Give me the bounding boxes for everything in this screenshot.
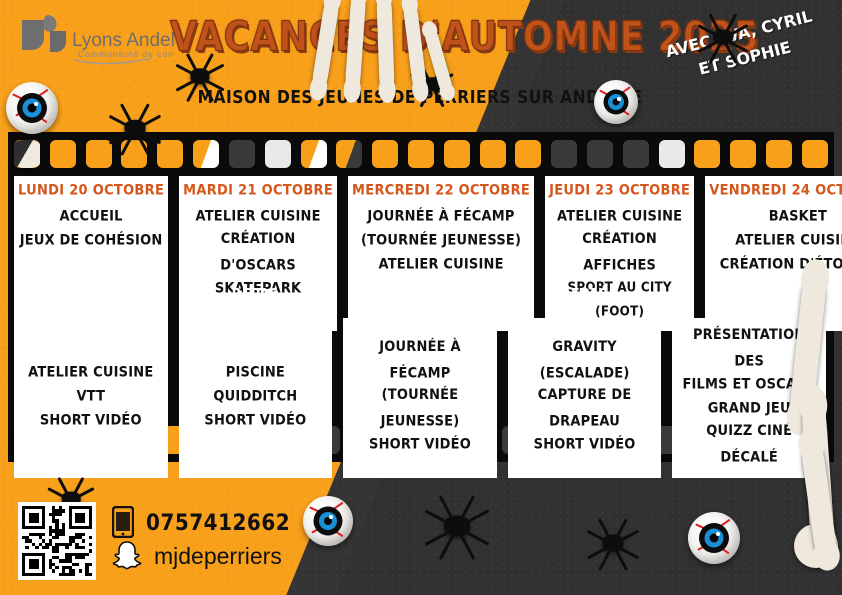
film-perforation xyxy=(730,140,756,168)
activity-item: BASKET xyxy=(709,204,842,230)
meal-label: REPAS xyxy=(343,285,497,302)
skeleton-bone-prop xyxy=(806,440,842,570)
mobile-phone-icon xyxy=(112,506,134,538)
meal-label: REPAS xyxy=(179,285,333,302)
spider-prop xyxy=(100,96,170,160)
film-perforation xyxy=(551,140,577,168)
activity-item: ATELIER CUISINE xyxy=(709,228,842,254)
svg-text:Lyons Andelle: Lyons Andelle xyxy=(72,30,174,51)
schedule-afternoon-row: ATELIER CUISINEVTTSHORT VIDÉOPISCINEQUID… xyxy=(14,318,826,478)
spider-prop xyxy=(414,486,500,566)
schedule-cell-afternoon: ATELIER CUISINEVTTSHORT VIDÉO xyxy=(14,318,168,478)
film-perforation xyxy=(480,140,506,168)
activity-item: JEUX DE COHÉSION xyxy=(18,228,164,254)
snapchat-ghost-icon xyxy=(110,540,144,572)
poster-root: Lyons Andelle Communauté de communes VAC… xyxy=(0,0,842,595)
film-perforation xyxy=(802,140,828,168)
spider-prop xyxy=(690,8,756,66)
meal-label: REPAS xyxy=(508,285,662,302)
film-perforation xyxy=(301,140,327,168)
day-heading: MARDI 21 OCTOBRE xyxy=(183,182,333,199)
schedule-cell-afternoon: PISCINEQUIDDITCHSHORT VIDÉO xyxy=(179,318,333,478)
activity-item: (TOURNÉE JEUNESSE) xyxy=(347,383,493,436)
activity-item: SHORT VIDÉO xyxy=(183,408,329,434)
schedule-cell-morning: MERCREDI 22 OCTOBREJOURNÉE À FÉCAMP(TOUR… xyxy=(348,176,534,331)
schedule-cell-morning: MARDI 21 OCTOBREATELIER CUISINECRÉATION … xyxy=(179,176,337,331)
activity-item: VTT xyxy=(18,384,164,410)
meal-label: REPAS xyxy=(14,285,168,302)
svg-text:Communauté de communes: Communauté de communes xyxy=(78,49,174,59)
activity-item: CRÉATION D'OSCARS xyxy=(183,227,333,280)
film-perforation xyxy=(444,140,470,168)
snapchat-contact[interactable]: mjdeperriers xyxy=(110,540,282,572)
film-perforation xyxy=(766,140,792,168)
schedule-meal-row: REPASREPASREPASREPASREPAS xyxy=(14,286,826,301)
film-perforation xyxy=(694,140,720,168)
activity-item: SHORT VIDÉO xyxy=(347,432,493,458)
schedule-cell-afternoon: GRAVITY (ESCALADE)CAPTURE DE DRAPEAUSHOR… xyxy=(508,318,662,478)
spider-prop xyxy=(578,510,648,576)
film-perforation xyxy=(659,140,685,168)
activity-item: ACCUEIL xyxy=(18,204,164,230)
day-heading: LUNDI 20 OCTOBRE xyxy=(18,182,164,199)
schedule-cell-afternoon: JOURNÉE À FÉCAMP(TOURNÉE JEUNESSE)SHORT … xyxy=(343,318,497,478)
lyons-andelle-logo: Lyons Andelle Communauté de communes xyxy=(14,10,174,66)
phone-contact[interactable]: 0757412662 xyxy=(112,506,290,538)
eyeball-prop xyxy=(6,82,58,134)
activity-item: PISCINE xyxy=(183,360,329,386)
film-perforation xyxy=(229,140,255,168)
logo-mark-icon: Lyons Andelle Communauté de communes xyxy=(14,10,174,66)
film-perforation xyxy=(372,140,398,168)
film-perforation xyxy=(336,140,362,168)
activity-item: CAPTURE DE DRAPEAU xyxy=(512,383,658,436)
phone-number: 0757412662 xyxy=(146,509,290,536)
spider-prop xyxy=(168,46,232,106)
activity-item: (TOURNÉE JEUNESSE) xyxy=(352,228,530,254)
qr-code[interactable] xyxy=(18,502,96,580)
day-heading: JEUDI 23 OCTOBRE xyxy=(549,182,690,199)
activity-item: JOURNÉE À FÉCAMP xyxy=(352,204,530,230)
eyeball-prop xyxy=(303,496,353,546)
film-perforation xyxy=(587,140,613,168)
film-perforation xyxy=(193,140,219,168)
film-perforation xyxy=(515,140,541,168)
film-perforation xyxy=(50,140,76,168)
eyeball-prop xyxy=(594,80,638,124)
snapchat-username: mjdeperriers xyxy=(154,543,282,570)
schedule-cell-morning: LUNDI 20 OCTOBREACCUEILJEUX DE COHÉSION xyxy=(14,176,168,331)
day-heading: MERCREDI 22 OCTOBRE xyxy=(352,182,530,199)
activity-item: QUIDDITCH xyxy=(183,384,329,410)
film-perforation xyxy=(408,140,434,168)
activity-item: GRAVITY (ESCALADE) xyxy=(512,335,658,388)
eyeball-prop xyxy=(688,512,740,564)
schedule-cell-morning: JEUDI 23 OCTOBREATELIER CUISINECRÉATION … xyxy=(545,176,694,331)
day-heading: VENDREDI 24 OCTOBRE xyxy=(709,182,842,199)
activity-item: SHORT VIDÉO xyxy=(512,432,658,458)
activity-item: ATELIER CUISINE xyxy=(18,360,164,386)
activity-item: ATELIER CUISINE xyxy=(352,252,530,278)
skeleton-hand-prop xyxy=(300,0,490,135)
film-perforation xyxy=(14,140,40,168)
film-perforation xyxy=(623,140,649,168)
schedule-morning-row: LUNDI 20 OCTOBREACCUEILJEUX DE COHÉSIONM… xyxy=(14,176,826,331)
film-perforation xyxy=(265,140,291,168)
qr-module xyxy=(89,573,92,576)
activity-item: SHORT VIDÉO xyxy=(18,408,164,434)
activity-item: CRÉATION AFFICHES xyxy=(549,227,690,280)
activity-item: JOURNÉE À FÉCAMP xyxy=(347,335,493,388)
